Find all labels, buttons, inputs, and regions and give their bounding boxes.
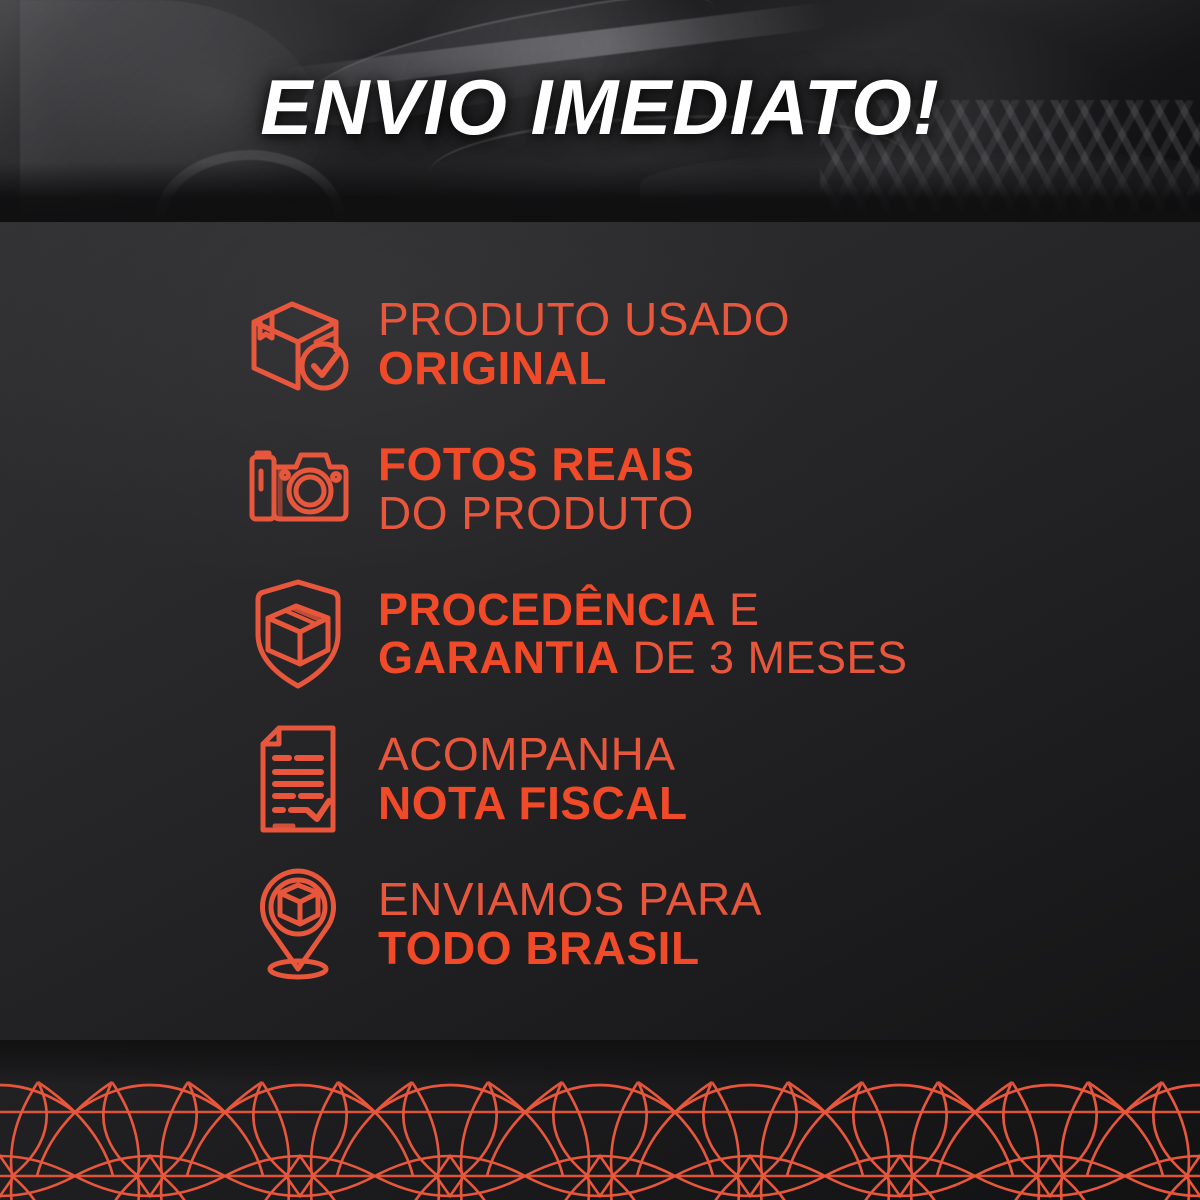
promo-banner-page: ENVIO IMEDIATO! [0,0,1200,1200]
feature-text-block: ENVIAMOS PARA TODO BRASIL [378,875,762,973]
camera-icon [240,431,356,547]
feature-item-produto-usado-original: PRODUTO USADO ORIGINAL [240,280,1140,408]
feature-line-2: ORIGINAL [378,344,790,393]
feature-line-2: DO PRODUTO [378,489,694,538]
shield-box-icon [240,576,356,692]
features-list: PRODUTO USADO ORIGINAL [240,284,1140,1005]
feature-line-1: PRODUTO USADO [378,295,790,344]
feature-text-block: PROCEDÊNCIA E GARANTIA DE 3 MESES [378,586,908,681]
feature-line-2-bold: GARANTIA [378,632,619,683]
box-check-icon [240,286,356,402]
feature-line-1: PROCEDÊNCIA E [378,586,908,634]
pattern-motif-row [0,1082,1200,1200]
invoice-check-icon [240,721,356,837]
feature-item-todo-brasil: ENVIAMOS PARA TODO BRASIL [240,860,1140,988]
footer-pattern [0,1040,1200,1200]
feature-item-fotos-reais: FOTOS REAIS DO PRODUTO [240,425,1140,553]
feature-line-1-light: E [716,584,760,635]
banner-title: ENVIO IMEDIATO! [0,0,1200,222]
feature-line-2-light: DE 3 MESES [619,632,907,683]
feature-line-1: ENVIAMOS PARA [378,875,762,924]
feature-line-1: ACOMPANHA [378,730,688,779]
feature-line-1: FOTOS REAIS [378,440,694,489]
feature-text-block: ACOMPANHA NOTA FISCAL [378,730,688,828]
feature-line-2: TODO BRASIL [378,924,762,973]
feature-text-block: PRODUTO USADO ORIGINAL [378,295,790,393]
feature-text-block: FOTOS REAIS DO PRODUTO [378,440,694,538]
feature-item-procedencia-garantia: PROCEDÊNCIA E GARANTIA DE 3 MESES [240,570,1140,698]
feature-line-2: GARANTIA DE 3 MESES [378,634,908,682]
feature-item-nota-fiscal: ACOMPANHA NOTA FISCAL [240,715,1140,843]
location-pin-box-icon [240,866,356,982]
feature-line-1-bold: PROCEDÊNCIA [378,584,716,635]
feature-line-2: NOTA FISCAL [378,779,688,828]
header-banner: ENVIO IMEDIATO! [0,0,1200,222]
